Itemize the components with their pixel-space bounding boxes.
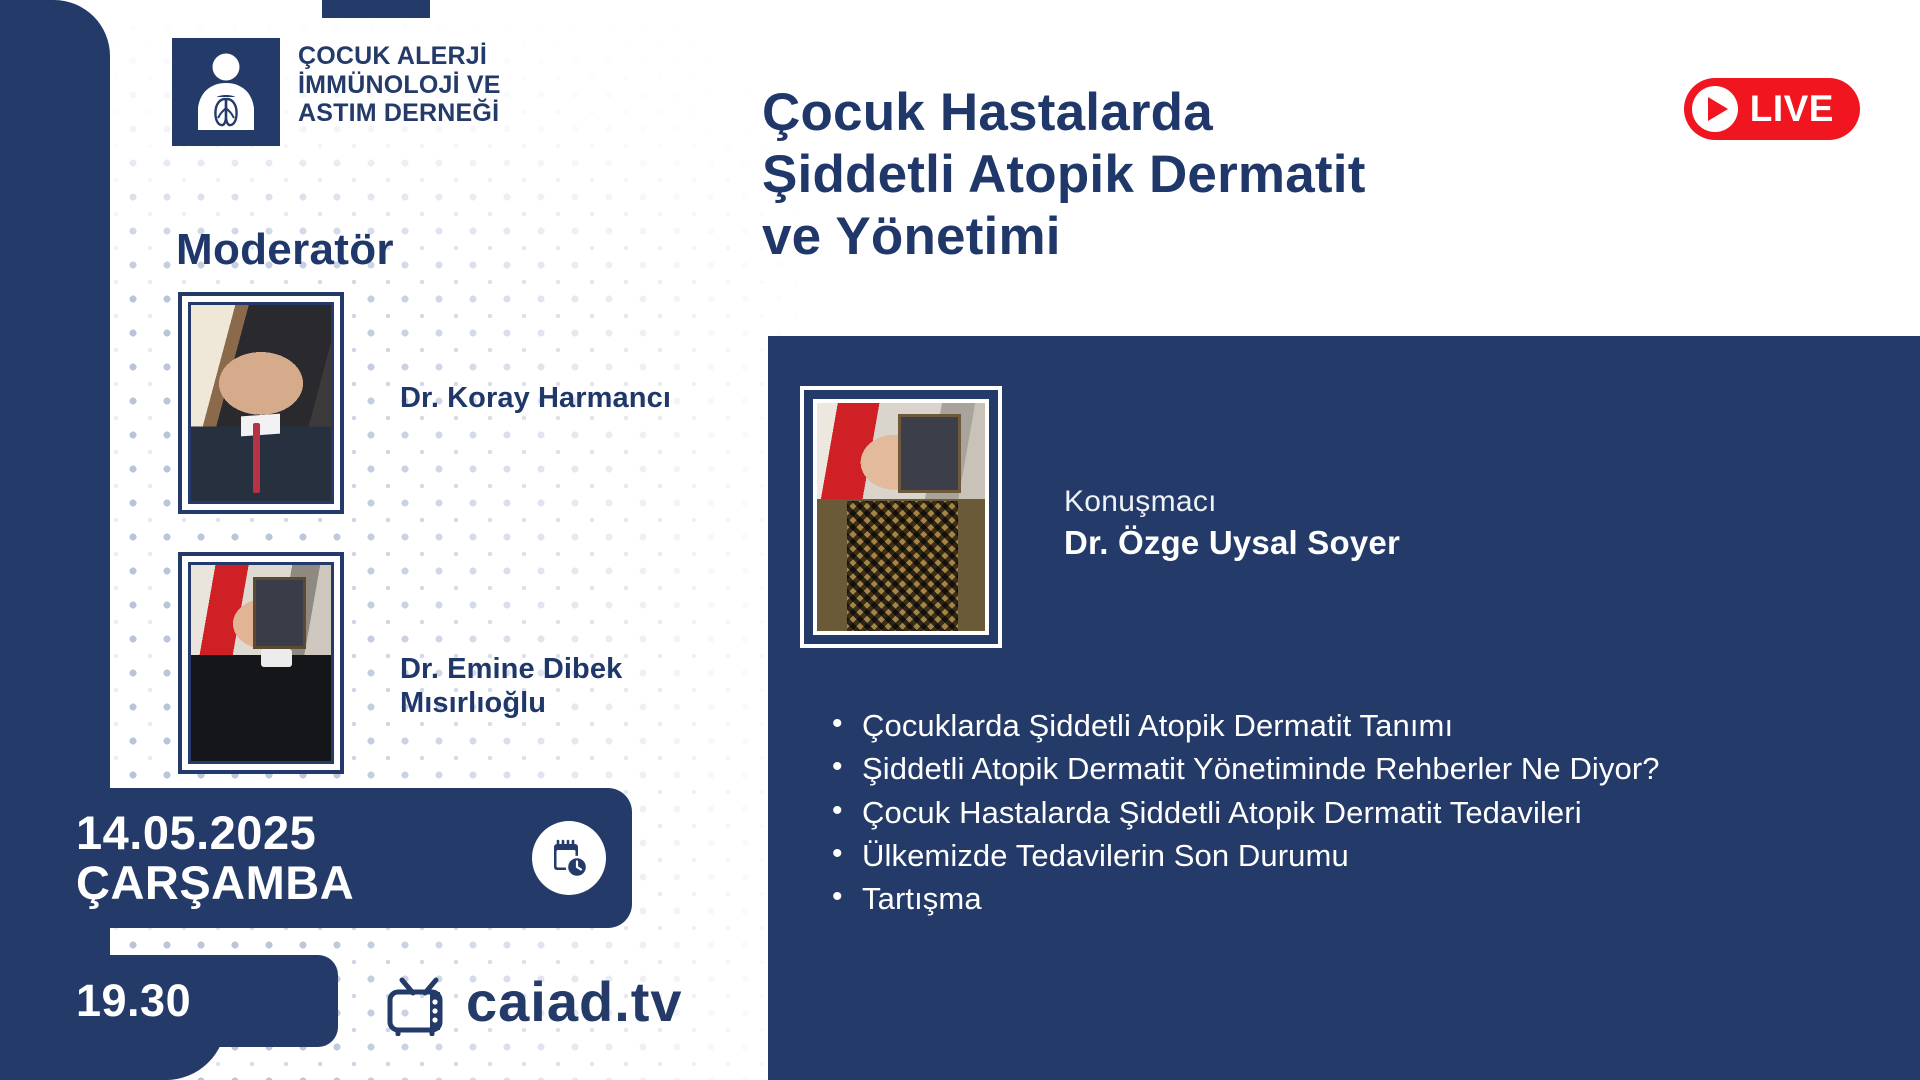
speaker-name: Dr. Özge Uysal Soyer — [1064, 524, 1400, 562]
webinar-poster: ÇOCUK ALERJİ İMMÜNOLOJİ VE ASTIM DERNEĞİ… — [0, 0, 1920, 1080]
list-item: Şiddetli Atopik Dermatit Yönetiminde Reh… — [828, 749, 1888, 789]
portrait-ozge-uysal-soyer — [817, 403, 985, 631]
association-logo-text: ÇOCUK ALERJİ İMMÜNOLOJİ VE ASTIM DERNEĞİ — [298, 38, 501, 128]
topic-list: Çocuklarda Şiddetli Atopik Dermatit Tanı… — [828, 706, 1888, 922]
speaker-role-label: Konuşmacı — [1064, 485, 1217, 519]
event-date-badge: 14.05.2025 ÇARŞAMBA — [0, 788, 632, 928]
person-lungs-icon — [172, 38, 280, 146]
moderator-2-photo-inner — [188, 562, 334, 764]
channel-row[interactable]: caiad.tv — [382, 962, 683, 1041]
tv-icon — [382, 962, 456, 1041]
channel-label: caiad.tv — [466, 974, 683, 1030]
event-date-text: 14.05.2025 ÇARŞAMBA — [76, 808, 354, 908]
moderator-1-name: Dr. Koray Harmancı — [400, 382, 700, 416]
portrait-emine-dibek-misirlioglu — [191, 565, 331, 761]
live-badge-label: LIVE — [1750, 88, 1834, 130]
top-accent-tab — [322, 0, 430, 18]
moderator-2-name: Dr. Emine Dibek Mısırlıoğlu — [400, 653, 730, 720]
moderator-1-photo-inner — [188, 302, 334, 504]
event-time-text: 19.30 — [76, 975, 191, 1027]
moderator-heading: Moderatör — [176, 225, 394, 275]
list-item: Çocuklarda Şiddetli Atopik Dermatit Tanı… — [828, 706, 1888, 746]
list-item: Tartışma — [828, 879, 1888, 919]
association-logo: ÇOCUK ALERJİ İMMÜNOLOJİ VE ASTIM DERNEĞİ — [172, 38, 501, 146]
list-item: Çocuk Hastalarda Şiddetli Atopik Dermati… — [828, 793, 1888, 833]
speaker-photo-frame — [800, 386, 1002, 648]
page-title: Çocuk Hastalarda Şiddetli Atopik Dermati… — [762, 82, 1622, 268]
list-item: Ülkemizde Tedavilerin Son Durumu — [828, 836, 1888, 876]
event-time-badge: 19.30 — [0, 955, 338, 1047]
calendar-clock-icon — [532, 821, 606, 895]
moderator-1-photo-frame — [178, 292, 344, 514]
portrait-koray-harmanci — [191, 305, 331, 501]
speaker-photo-inner — [813, 399, 989, 635]
play-icon — [1692, 86, 1738, 132]
live-badge[interactable]: LIVE — [1684, 78, 1860, 140]
moderator-2-photo-frame — [178, 552, 344, 774]
